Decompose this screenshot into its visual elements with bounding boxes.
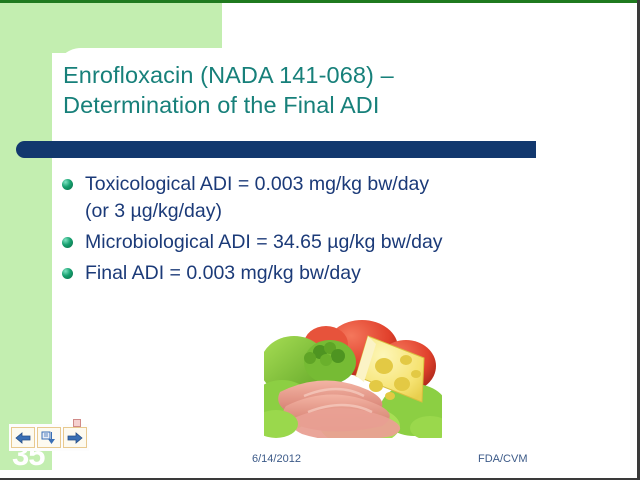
bullet-sphere-icon [62,179,73,190]
bullet-sphere-icon [62,237,73,248]
slide-title: Enrofloxacin (NADA 141-068) – Determinat… [63,60,563,120]
close-icon[interactable] [73,419,81,427]
back-button[interactable] [11,427,35,448]
forward-button[interactable] [63,427,87,448]
navigation-toolbar [9,424,89,451]
footer-organization: FDA/CVM [478,453,528,465]
list-item: Toxicological ADI = 0.003 mg/kg bw/day (… [62,171,582,225]
list-item: Microbiological ADI = 34.65 µg/kg bw/day [62,229,582,256]
food-photograph [264,314,442,438]
footer-date: 6/14/2012 [252,453,301,465]
right-arrow-icon [67,432,83,444]
save-button[interactable] [37,427,61,448]
bullet-text: Toxicological ADI = 0.003 mg/kg bw/day (… [85,171,429,225]
left-arrow-icon [15,432,31,444]
presentation-slide: Enrofloxacin (NADA 141-068) – Determinat… [0,0,640,480]
bullet-text: Final ADI = 0.003 mg/kg bw/day [85,260,361,287]
list-item: Final ADI = 0.003 mg/kg bw/day [62,260,582,287]
bullet-list: Toxicological ADI = 0.003 mg/kg bw/day (… [62,171,582,291]
title-divider-bar [16,141,536,158]
green-side-column [0,3,52,470]
bullet-sphere-icon [62,268,73,279]
bullet-text: Microbiological ADI = 34.65 µg/kg bw/day [85,229,443,256]
save-download-icon [41,431,57,445]
